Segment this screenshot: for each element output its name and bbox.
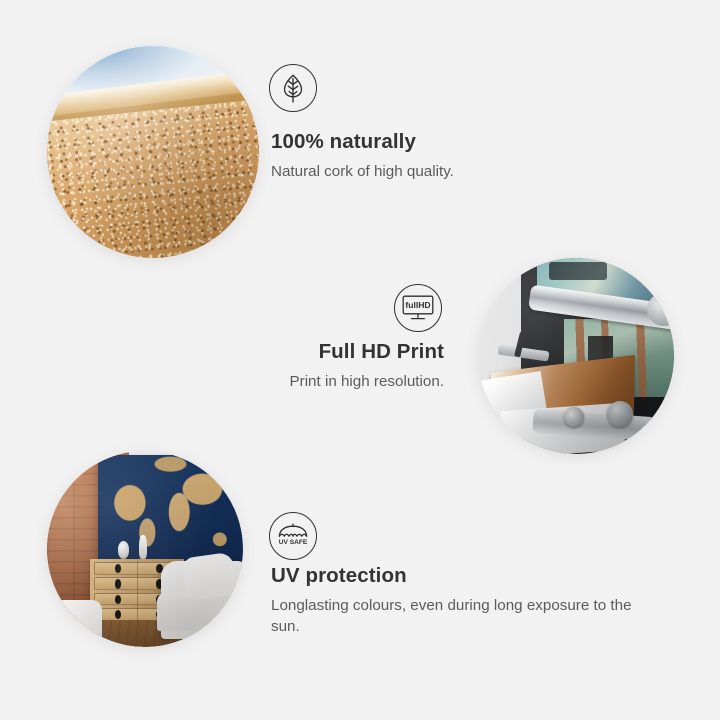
feature-description: Print in high resolution.	[180, 371, 444, 393]
umbrella-icon-label: UV SAFE	[279, 539, 308, 546]
room-world-map-photo-content	[47, 451, 243, 647]
umbrella-uv-safe-icon: UV SAFE	[269, 512, 317, 560]
printing-press-photo-content	[478, 258, 674, 454]
monitor-icon-label: fullHD	[405, 300, 430, 310]
printing-press-photo	[478, 258, 674, 454]
product-features-infographic: 100% naturally Natural cork of high qual…	[0, 0, 720, 720]
monitor-fullhd-icon: fullHD	[394, 284, 442, 332]
feature-title: UV protection	[271, 564, 643, 588]
photo-vignette	[47, 451, 243, 647]
cork-closeup-photo	[47, 46, 259, 258]
cork-closeup-photo-content	[47, 46, 259, 258]
feature-text-natural: 100% naturally Natural cork of high qual…	[271, 130, 571, 182]
feature-text-uv: UV protection Longlasting colours, even …	[271, 564, 643, 638]
room-world-map-photo	[47, 451, 243, 647]
photo-vignette	[47, 46, 259, 258]
feature-description: Natural cork of high quality.	[271, 161, 571, 183]
feature-title: 100% naturally	[271, 130, 571, 154]
feature-description: Longlasting colours, even during long ex…	[271, 595, 643, 638]
photo-vignette	[478, 258, 674, 454]
feature-title: Full HD Print	[180, 340, 444, 364]
feature-text-fullhd: Full HD Print Print in high resolution.	[180, 340, 444, 392]
leaf-icon	[269, 64, 317, 112]
